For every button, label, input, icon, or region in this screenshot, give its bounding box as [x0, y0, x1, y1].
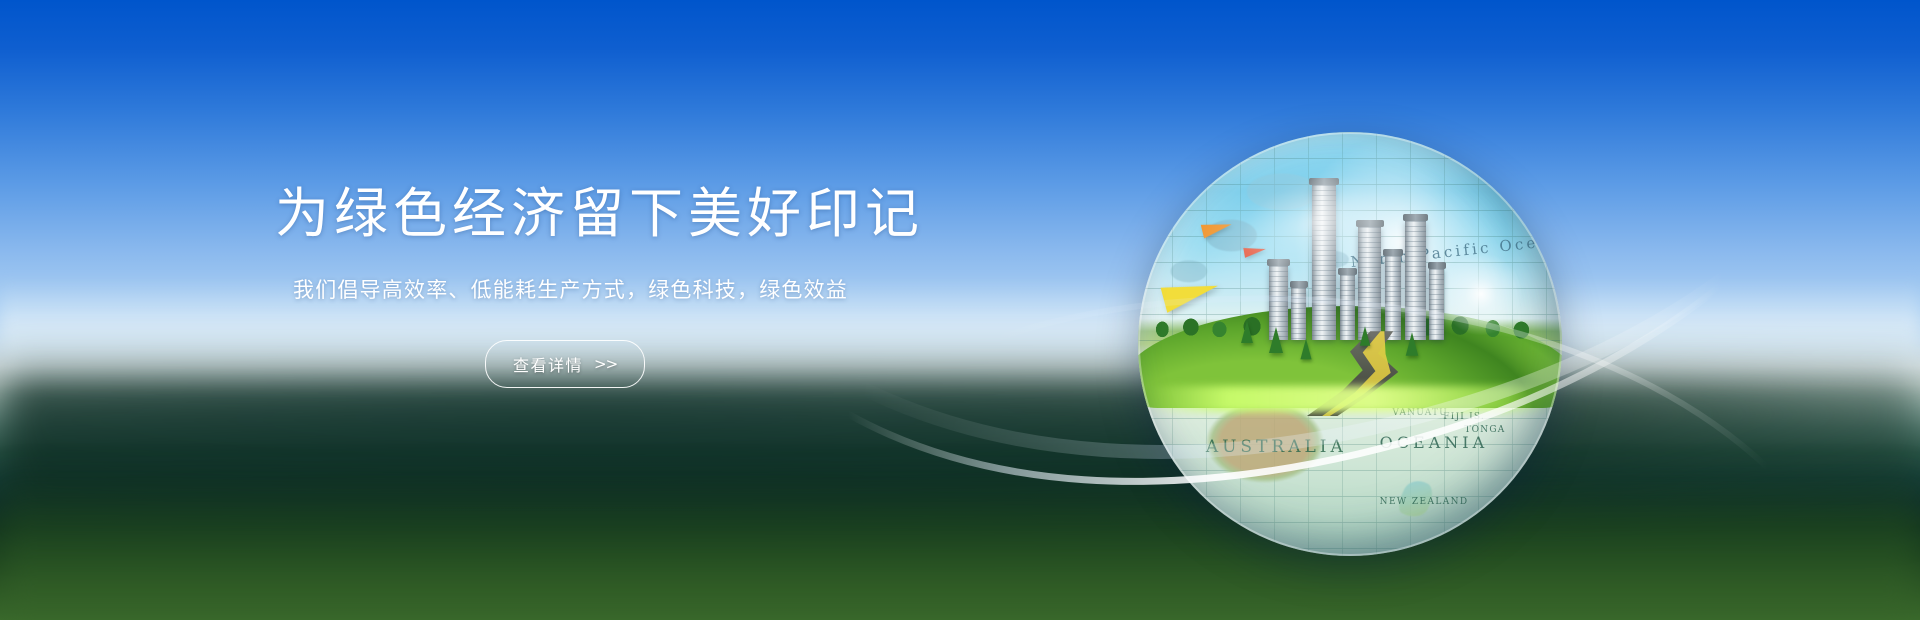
chevron-right-icon: >> — [594, 355, 617, 373]
building — [1291, 288, 1306, 340]
map-label-oceania: OCEANIA — [1380, 433, 1488, 452]
map-label-new-zealand: NEW ZEALAND — [1380, 497, 1469, 507]
tree-icon — [1301, 338, 1312, 359]
view-details-button[interactable]: 查看详情 >> — [485, 340, 645, 388]
map-label-australia: AUSTRALIA — [1206, 437, 1347, 457]
city-skyline — [1265, 179, 1452, 340]
cta-container: 查看详情 >> — [485, 340, 895, 388]
building — [1340, 275, 1355, 339]
building — [1312, 185, 1336, 340]
cta-label: 查看详情 — [513, 352, 583, 376]
tree-icon — [1406, 333, 1419, 356]
hero-copy-block: 为绿色经济留下美好印记 我们倡导高效率、低能耗生产方式，绿色科技，绿色效益 查看… — [275, 180, 895, 388]
hero-subheadline: 我们倡导高效率、低能耗生产方式，绿色科技，绿色效益 — [293, 274, 895, 304]
hero-headline: 为绿色经济留下美好印记 — [275, 180, 895, 248]
tree-icon — [1269, 327, 1283, 353]
hill-edge-glow — [1146, 386, 1553, 411]
hero-banner: North Pacific Ocean INDONESIA PAPUA NEW … — [0, 0, 1920, 620]
foreground-grass-blur — [0, 470, 1920, 620]
building — [1385, 256, 1402, 340]
building — [1358, 227, 1380, 340]
globe-sphere: North Pacific Ocean INDONESIA PAPUA NEW … — [1138, 132, 1562, 556]
building — [1429, 269, 1444, 340]
globe-illustration: North Pacific Ocean INDONESIA PAPUA NEW … — [1138, 132, 1562, 556]
building — [1405, 221, 1426, 340]
tree-icon — [1241, 320, 1253, 342]
map-label-fiji: FIJI IS. — [1443, 412, 1485, 422]
tree-icon — [1360, 326, 1371, 346]
